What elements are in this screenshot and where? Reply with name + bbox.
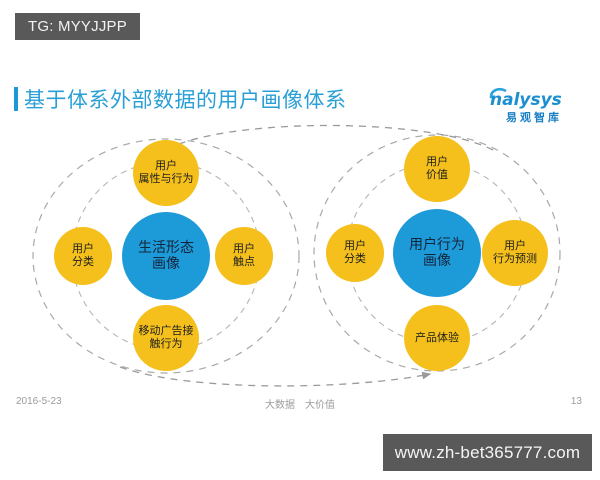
center-node-line-2: 画像 bbox=[409, 253, 465, 269]
satellite-node-left-group-top[interactable]: 用户 属性与行为 bbox=[133, 140, 199, 206]
satellite-label-line-1: 移动广告接 bbox=[139, 325, 194, 338]
satellite-node-left-group-right[interactable]: 用户 触点 bbox=[215, 227, 273, 285]
center-node-line-2: 画像 bbox=[138, 256, 194, 272]
satellite-label-line-1: 用户 bbox=[426, 156, 448, 169]
page-title-text: 基于体系外部数据的用户画像体系 bbox=[24, 84, 347, 114]
satellite-label-line-2: 分类 bbox=[72, 256, 94, 269]
satellite-node-right-group-bottom[interactable]: 产品体验 bbox=[404, 305, 470, 371]
watermark-url: www.zh-bet365777.com bbox=[383, 434, 592, 471]
satellite-label-line-1: 用户 bbox=[233, 243, 255, 256]
satellite-label-line-1: 用户 bbox=[493, 240, 537, 253]
user-profile-diagram: 生活形态 画像 用户 属性与行为 用户 分类 用户 触点 移动广告接 触行为 用… bbox=[0, 120, 600, 390]
center-node-line-1: 用户行为 bbox=[409, 237, 465, 253]
satellite-node-left-group-bottom[interactable]: 移动广告接 触行为 bbox=[133, 305, 199, 371]
analysys-wordmark-icon: nalysys bbox=[486, 86, 582, 110]
svg-text:nalysys: nalysys bbox=[490, 90, 562, 110]
page-title: 基于体系外部数据的用户画像体系 bbox=[14, 84, 347, 114]
center-node-life-style-profile[interactable]: 生活形态 画像 bbox=[122, 212, 210, 300]
satellite-label-line-2: 价值 bbox=[426, 169, 448, 182]
center-node-line-1: 生活形态 bbox=[138, 240, 194, 256]
satellite-label-line-2: 属性与行为 bbox=[139, 173, 194, 186]
satellite-label-line-1: 用户 bbox=[344, 240, 366, 253]
satellite-node-right-group-left[interactable]: 用户 分类 bbox=[326, 224, 384, 282]
center-node-user-behavior-profile[interactable]: 用户行为 画像 bbox=[393, 209, 481, 297]
satellite-label-line-2: 分类 bbox=[344, 253, 366, 266]
satellite-label-line-1: 用户 bbox=[139, 160, 194, 173]
satellite-label-line-2: 行为预测 bbox=[493, 253, 537, 266]
satellite-label-line-2: 触行为 bbox=[139, 338, 194, 351]
footer-tagline: 大数据 大价值 bbox=[0, 396, 600, 411]
title-accent-bar bbox=[14, 87, 18, 111]
satellite-label-line-1: 产品体验 bbox=[415, 332, 459, 345]
footer-page-number: 13 bbox=[571, 396, 582, 407]
satellite-node-left-group-left[interactable]: 用户 分类 bbox=[54, 227, 112, 285]
satellite-label-line-2: 触点 bbox=[233, 256, 255, 269]
satellite-node-right-group-right[interactable]: 用户 行为预测 bbox=[482, 220, 548, 286]
satellite-label-line-1: 用户 bbox=[72, 243, 94, 256]
tg-badge: TG: MYYJJPP bbox=[15, 13, 140, 40]
satellite-node-right-group-top[interactable]: 用户 价值 bbox=[404, 136, 470, 202]
